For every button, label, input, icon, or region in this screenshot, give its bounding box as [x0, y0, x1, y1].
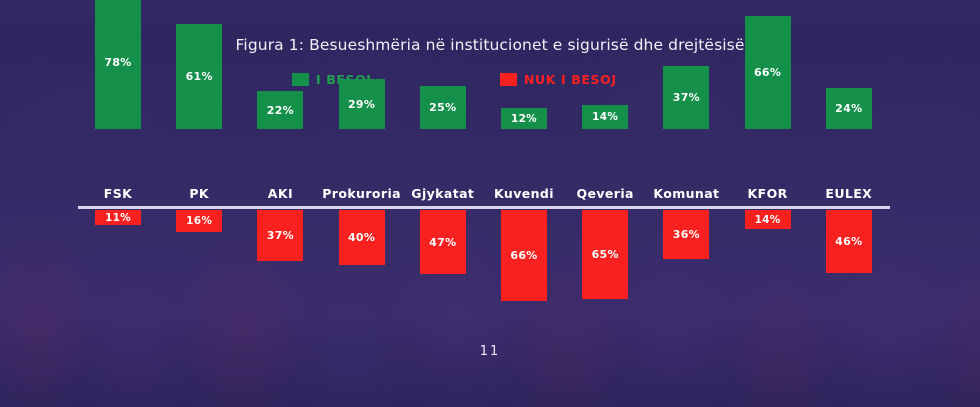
bar-value-label: 78%	[104, 56, 131, 69]
bar-nuk-i-besoj: 40%	[339, 210, 385, 265]
bar-group: 24%EULEX46%	[809, 0, 889, 330]
bar-value-label: 37%	[673, 91, 700, 104]
bar-value-label: 11%	[105, 212, 131, 224]
category-label-kfor: KFOR	[728, 186, 808, 201]
bar-i-besoj: 66%	[745, 16, 791, 129]
bar-value-label: 22%	[267, 104, 294, 117]
bar-group: 78%FSK11%	[78, 0, 158, 330]
bar-value-label: 46%	[835, 235, 862, 248]
bar-i-besoj: 25%	[420, 86, 466, 129]
bar-nuk-i-besoj: 46%	[826, 210, 872, 273]
bar-i-besoj: 61%	[176, 24, 222, 129]
bar-value-label: 47%	[429, 236, 456, 249]
bar-value-label: 66%	[510, 249, 537, 262]
category-label-prokuroria: Prokuroria	[322, 186, 402, 201]
bar-value-label: 14%	[755, 214, 781, 226]
category-label-aki: AKI	[240, 186, 320, 201]
bar-i-besoj: 14%	[582, 105, 628, 129]
bar-i-besoj: 37%	[663, 66, 709, 129]
category-label-komunat: Komunat	[646, 186, 726, 201]
bar-i-besoj: 78%	[95, 0, 141, 129]
slide-canvas: Figura 1: Besueshmëria në institucionet …	[0, 0, 980, 407]
bar-group: 61%PK16%	[159, 0, 239, 330]
bar-value-label: 61%	[186, 70, 213, 83]
bar-nuk-i-besoj: 16%	[176, 210, 222, 232]
bar-group: 22%AKI37%	[240, 0, 320, 330]
bar-i-besoj: 12%	[501, 108, 547, 129]
bar-value-label: 16%	[186, 215, 212, 227]
bar-value-label: 65%	[592, 248, 619, 261]
bar-value-label: 12%	[511, 113, 537, 125]
category-label-qeveria: Qeveria	[565, 186, 645, 201]
bar-value-label: 66%	[754, 66, 781, 79]
bar-value-label: 14%	[592, 111, 618, 123]
bar-nuk-i-besoj: 47%	[420, 210, 466, 274]
bar-i-besoj: 29%	[339, 79, 385, 129]
bar-nuk-i-besoj: 11%	[95, 210, 141, 225]
bar-nuk-i-besoj: 14%	[745, 210, 791, 229]
bar-i-besoj: 24%	[826, 88, 872, 129]
bar-group: 66%KFOR14%	[728, 0, 808, 330]
bar-value-label: 40%	[348, 231, 375, 244]
bar-value-label: 24%	[835, 102, 862, 115]
bar-group: 29%Prokuroria40%	[322, 0, 402, 330]
category-label-fsk: FSK	[78, 186, 158, 201]
category-label-pk: PK	[159, 186, 239, 201]
chart: Figura 1: Besueshmëria në institucionet …	[0, 0, 980, 407]
bar-group: 12%Kuvendi66%	[484, 0, 564, 330]
bar-value-label: 37%	[267, 229, 294, 242]
category-label-kuvendi: Kuvendi	[484, 186, 564, 201]
bar-group: 25%Gjykatat47%	[403, 0, 483, 330]
bar-nuk-i-besoj: 37%	[257, 210, 303, 261]
bar-group: 14%Qeveria65%	[565, 0, 645, 330]
bar-nuk-i-besoj: 65%	[582, 210, 628, 299]
bar-nuk-i-besoj: 36%	[663, 210, 709, 259]
page-number: 11	[0, 344, 980, 359]
category-label-eulex: EULEX	[809, 186, 889, 201]
bar-group: 37%Komunat36%	[646, 0, 726, 330]
bar-value-label: 29%	[348, 98, 375, 111]
category-label-gjykatat: Gjykatat	[403, 186, 483, 201]
bar-value-label: 25%	[429, 101, 456, 114]
bar-nuk-i-besoj: 66%	[501, 210, 547, 301]
bar-value-label: 36%	[673, 228, 700, 241]
bar-i-besoj: 22%	[257, 91, 303, 129]
